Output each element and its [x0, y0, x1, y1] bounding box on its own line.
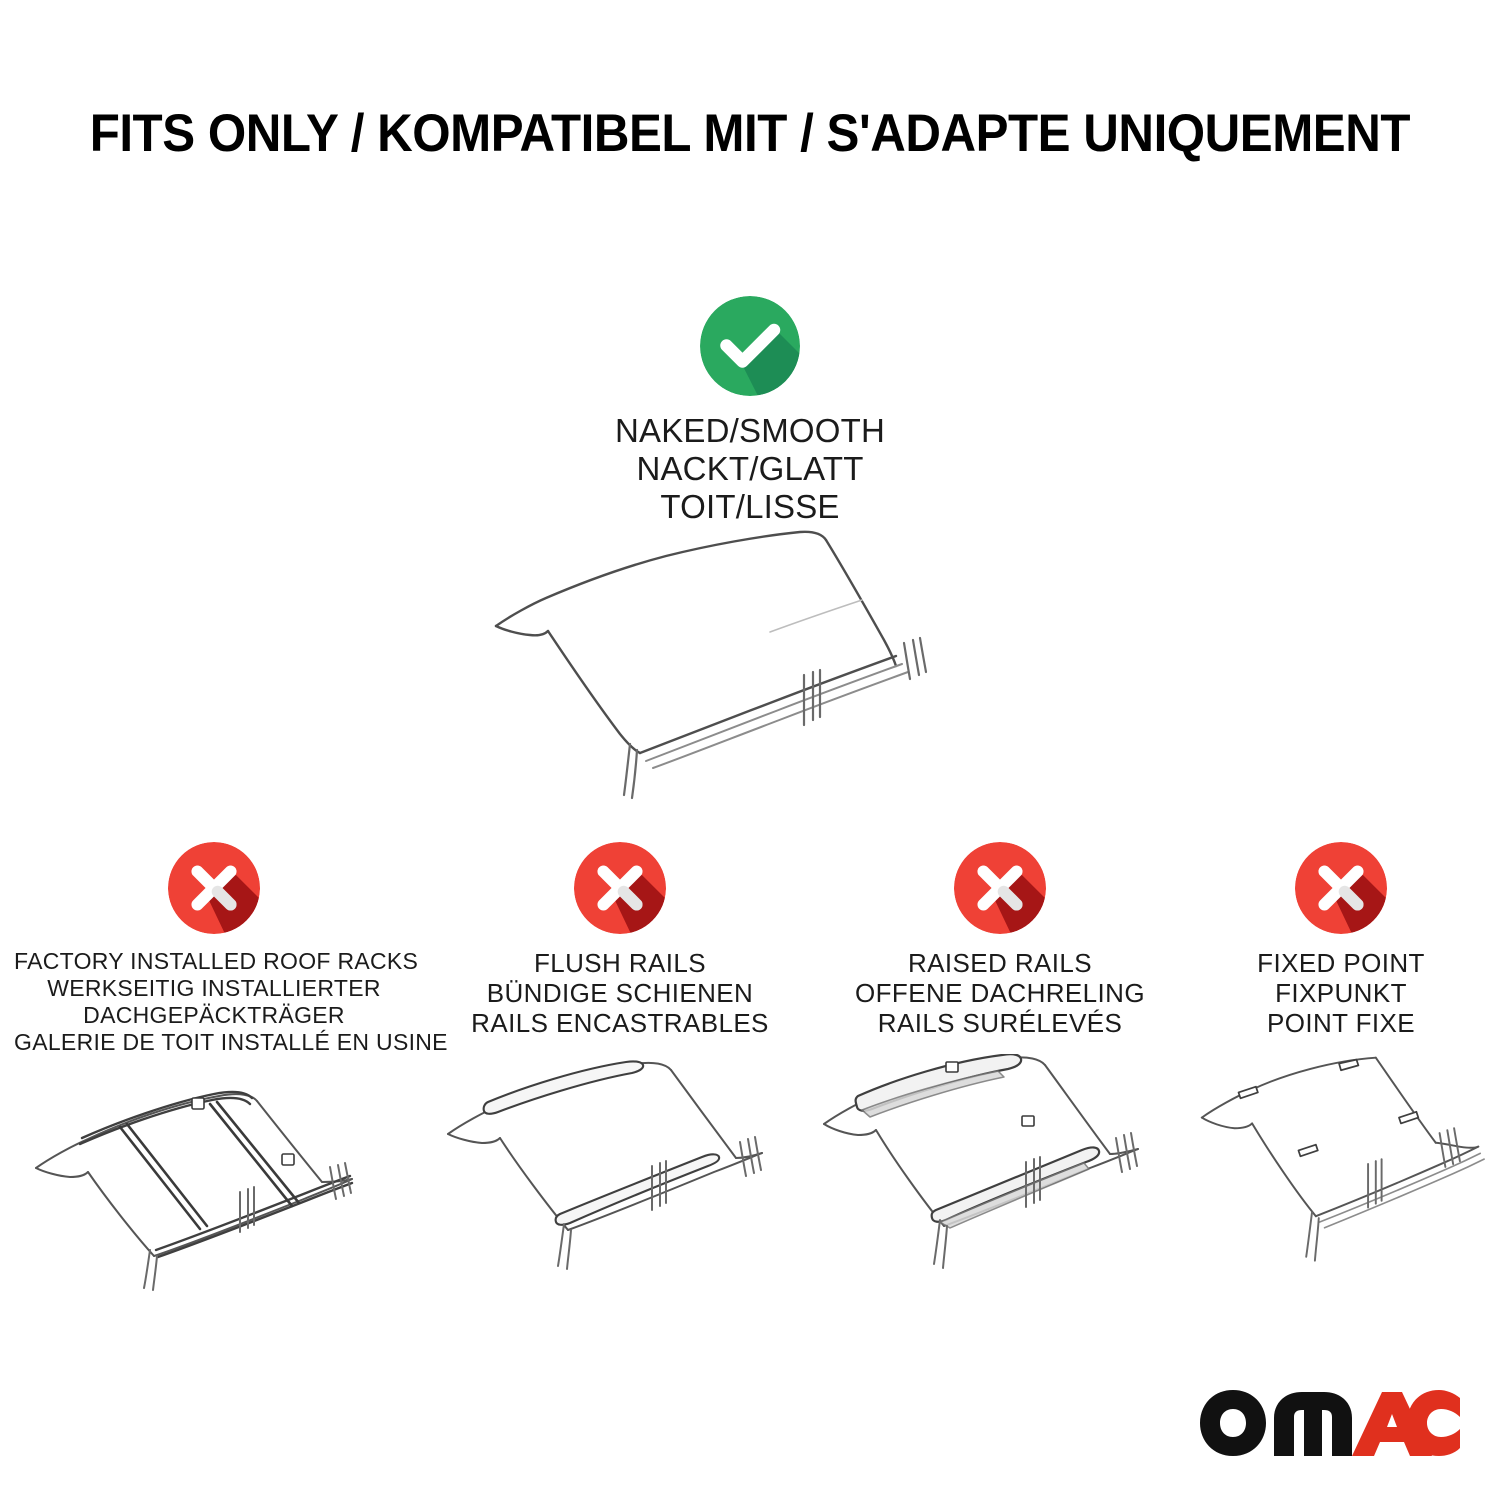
x-circle-icon — [954, 842, 1046, 934]
label-line-1: FIXED POINT — [1196, 948, 1486, 978]
logo-letter-m — [1274, 1392, 1352, 1456]
car-roof-with-factory-rack-illustration — [14, 1072, 414, 1292]
infographic-page: FITS ONLY / KOMPATIBEL MIT / S'ADAPTE UN… — [0, 0, 1500, 1500]
label-line-3: DACHGEPÄCKTRÄGER — [14, 1002, 414, 1029]
x-circle-icon — [574, 842, 666, 934]
incompatible-label-fixed-point: FIXED POINT FIXPUNKT POINT FIXE — [1196, 948, 1486, 1038]
incompatible-item-fixed-point: FIXED POINT FIXPUNKT POINT FIXE — [1196, 842, 1486, 1274]
label-line-4: GALERIE DE TOIT INSTALLÉ EN USINE — [14, 1029, 414, 1056]
page-title: FITS ONLY / KOMPATIBEL MIT / S'ADAPTE UN… — [90, 104, 1410, 164]
compatible-block: NAKED/SMOOTH NACKT/GLATT TOIT/LISSE — [570, 296, 930, 526]
logo-letter-o — [1200, 1390, 1266, 1456]
incompatible-item-flush-rails: FLUSH RAILS BÜNDIGE SCHIENEN RAILS ENCAS… — [440, 842, 800, 1274]
label-line-3: POINT FIXE — [1196, 1008, 1486, 1038]
car-roof-with-raised-rails-illustration — [818, 1054, 1182, 1274]
incompatible-row: FACTORY INSTALLED ROOF RACKS WERKSEITIG … — [0, 842, 1500, 1322]
bare-smooth-car-roof-illustration — [470, 512, 1050, 812]
label-line-3: RAILS SURÉLEVÉS — [818, 1008, 1182, 1038]
label-line-2: FIXPUNKT — [1196, 978, 1486, 1008]
check-circle-icon — [700, 296, 800, 396]
label-line-2: WERKSEITIG INSTALLIERTER — [14, 975, 414, 1002]
label-line-1: RAISED RAILS — [818, 948, 1182, 978]
incompatible-label-raised-rails: RAISED RAILS OFFENE DACHRELING RAILS SUR… — [818, 948, 1182, 1038]
label-line-1: FACTORY INSTALLED ROOF RACKS — [14, 948, 414, 975]
car-roof-with-fixed-points-illustration — [1196, 1054, 1486, 1274]
omac-logo — [1196, 1386, 1464, 1460]
label-line-2: OFFENE DACHRELING — [818, 978, 1182, 1008]
compatible-label-line-1: NAKED/SMOOTH — [570, 412, 930, 450]
x-circle-icon — [1295, 842, 1387, 934]
incompatible-label-factory-roof-racks: FACTORY INSTALLED ROOF RACKS WERKSEITIG … — [14, 948, 414, 1056]
label-line-2: BÜNDIGE SCHIENEN — [440, 978, 800, 1008]
incompatible-item-factory-roof-racks: FACTORY INSTALLED ROOF RACKS WERKSEITIG … — [14, 842, 414, 1292]
incompatible-item-raised-rails: RAISED RAILS OFFENE DACHRELING RAILS SUR… — [818, 842, 1182, 1274]
incompatible-label-flush-rails: FLUSH RAILS BÜNDIGE SCHIENEN RAILS ENCAS… — [440, 948, 800, 1038]
page-title-bar: FITS ONLY / KOMPATIBEL MIT / S'ADAPTE UN… — [0, 104, 1500, 164]
compatible-label-line-2: NACKT/GLATT — [570, 450, 930, 488]
car-roof-with-flush-rails-illustration — [440, 1054, 800, 1274]
label-line-3: RAILS ENCASTRABLES — [440, 1008, 800, 1038]
x-circle-icon — [168, 842, 260, 934]
compatible-label: NAKED/SMOOTH NACKT/GLATT TOIT/LISSE — [570, 412, 930, 526]
label-line-1: FLUSH RAILS — [440, 948, 800, 978]
